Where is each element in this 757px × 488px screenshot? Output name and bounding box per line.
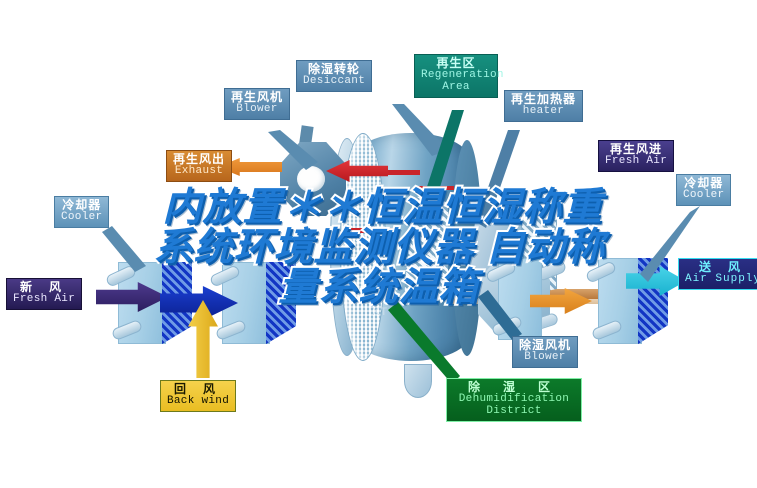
label-en: Fresh Air [13,294,75,306]
label-air-supply[interactable]: 送 风 Air Supply [678,258,757,290]
label-cn: 再生加热器 [511,93,576,106]
label-en: Desiccant [303,76,365,88]
label-cn: 除 湿 区 [453,381,575,394]
label-cn: 再生风机 [231,91,283,104]
label-cn: 除湿转轮 [303,63,365,76]
label-cn: 再生区 [421,57,491,70]
label-cn: 回 风 [167,383,229,396]
label-en: heater [511,106,576,118]
label-en: Fresh Air [605,156,667,168]
leader-lines [0,0,757,488]
label-dehum-blower[interactable]: 除湿风机 Blower [512,336,578,368]
label-regen-blower[interactable]: 再生风机 Blower [224,88,290,120]
label-cn: 除湿风机 [519,339,571,352]
label-en: Blower [519,352,571,364]
label-en: Cooler [61,212,102,224]
label-dehum-district[interactable]: 除 湿 区 Dehumidification District [446,378,582,422]
label-en: Air Supply [685,274,757,286]
label-en: Regeneration Area [421,70,491,94]
label-en: Dehumidification District [453,394,575,418]
label-cn: 再生风出 [173,153,225,166]
label-cn: 送 风 [685,261,757,274]
label-back-wind[interactable]: 回 风 Back wind [160,380,236,412]
label-cn: 冷却器 [683,177,724,190]
label-cn: 新 风 [13,281,75,294]
label-cn: 再生风进 [605,143,667,156]
label-regen-heater[interactable]: 再生加热器 heater [504,90,583,122]
label-fresh-air-left[interactable]: 新 风 Fresh Air [6,278,82,310]
label-en: Cooler [683,190,724,202]
label-fresh-air-right[interactable]: 再生风进 Fresh Air [598,140,674,172]
label-en: Exhaust [173,166,225,178]
label-en: Back wind [167,396,229,408]
label-en: Blower [231,104,283,116]
diagram-canvas: XT [0,0,757,488]
label-cooler-left[interactable]: 冷却器 Cooler [54,196,109,228]
label-cooler-right[interactable]: 冷却器 Cooler [676,174,731,206]
label-regen-area[interactable]: 再生区 Regeneration Area [414,54,498,98]
label-cn: 冷却器 [61,199,102,212]
label-regen-exhaust[interactable]: 再生风出 Exhaust [166,150,232,182]
label-desiccant-wheel[interactable]: 除湿转轮 Desiccant [296,60,372,92]
